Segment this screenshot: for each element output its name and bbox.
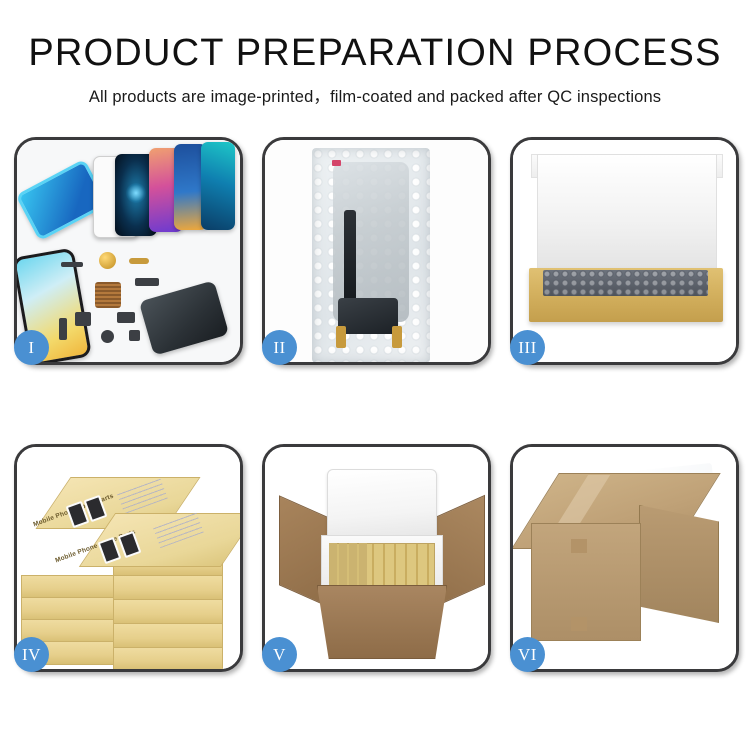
process-step-panel-3[interactable]: III [510, 137, 739, 365]
gold-tab-right-graphic [392, 326, 402, 348]
process-step-panel-6[interactable]: VI [510, 444, 739, 672]
stacked-box-graphic [113, 647, 223, 669]
scene-parts-inspection [17, 140, 240, 362]
sim-tray-part-graphic [59, 318, 67, 340]
process-step-panel-4[interactable]: Mobile Phone Spare Parts Mobile Phone Sp… [14, 444, 243, 672]
step-badge-5: V [262, 637, 297, 672]
process-step-panel-5[interactable]: V [262, 444, 491, 672]
gold-tab-left-graphic [336, 326, 346, 348]
box-lid-graphic [537, 154, 717, 274]
step-badge-4: IV [14, 637, 49, 672]
scene-sealed-carton [513, 447, 736, 669]
process-step-grid: I II [14, 137, 738, 672]
page-subtitle: All products are image-printed，film-coat… [0, 83, 750, 107]
page-title: PRODUCT PREPARATION PROCESS [0, 34, 750, 74]
bracket-part-graphic [75, 312, 91, 326]
stacked-box-graphic [113, 599, 223, 625]
chip-part-graphic [95, 282, 121, 308]
screw-part-graphic [129, 330, 140, 341]
step-image-5 [265, 447, 488, 669]
step-image-1 [17, 140, 240, 362]
red-label-graphic [332, 160, 341, 166]
connector-part-graphic [135, 278, 159, 286]
page-header: PRODUCT PREPARATION PROCESS All products… [0, 0, 750, 107]
step-image-4: Mobile Phone Spare Parts Mobile Phone Sp… [17, 447, 240, 669]
foam-lid-graphic [327, 469, 437, 543]
process-step-panel-1[interactable]: I [14, 137, 243, 365]
carton-edge-tab-lower-graphic [571, 617, 587, 631]
camera-part-graphic [117, 312, 135, 323]
step-badge-1: I [14, 330, 49, 365]
carton-side-face-graphic [639, 505, 719, 623]
step-image-3 [513, 140, 736, 362]
carton-body-graphic [317, 585, 447, 659]
stacked-box-graphic [21, 575, 119, 599]
stacked-box-graphic [21, 597, 119, 621]
grey-bubble-wrap-graphic [543, 270, 708, 296]
scene-boxed-stacking: Mobile Phone Spare Parts Mobile Phone Sp… [17, 447, 240, 669]
scene-carton-loading [265, 447, 488, 669]
step-badge-3: III [510, 330, 545, 365]
bubble-wrap-bag-graphic [312, 148, 430, 362]
step-badge-6: VI [510, 637, 545, 672]
step-image-6 [513, 447, 736, 669]
small-part-graphic [61, 262, 83, 267]
carton-edge-tab-upper-graphic [571, 539, 587, 553]
flex-cable-part-graphic [129, 258, 149, 264]
step-image-2 [265, 140, 488, 362]
speaker-part-graphic [99, 252, 116, 269]
screen-connector-graphic [338, 298, 398, 334]
stacked-box-graphic [113, 623, 223, 649]
gold-boxes-row-graphic [329, 543, 367, 587]
scene-bubble-wrapping [265, 140, 488, 362]
stacked-box-graphic [113, 575, 223, 601]
scene-inner-box-packing [513, 140, 736, 362]
process-step-panel-2[interactable]: II [262, 137, 491, 365]
step-badge-2: II [262, 330, 297, 365]
phone-back-housing-graphic [139, 280, 229, 355]
button-part-graphic [101, 330, 114, 343]
phone-screen-teal-graphic [201, 142, 235, 230]
